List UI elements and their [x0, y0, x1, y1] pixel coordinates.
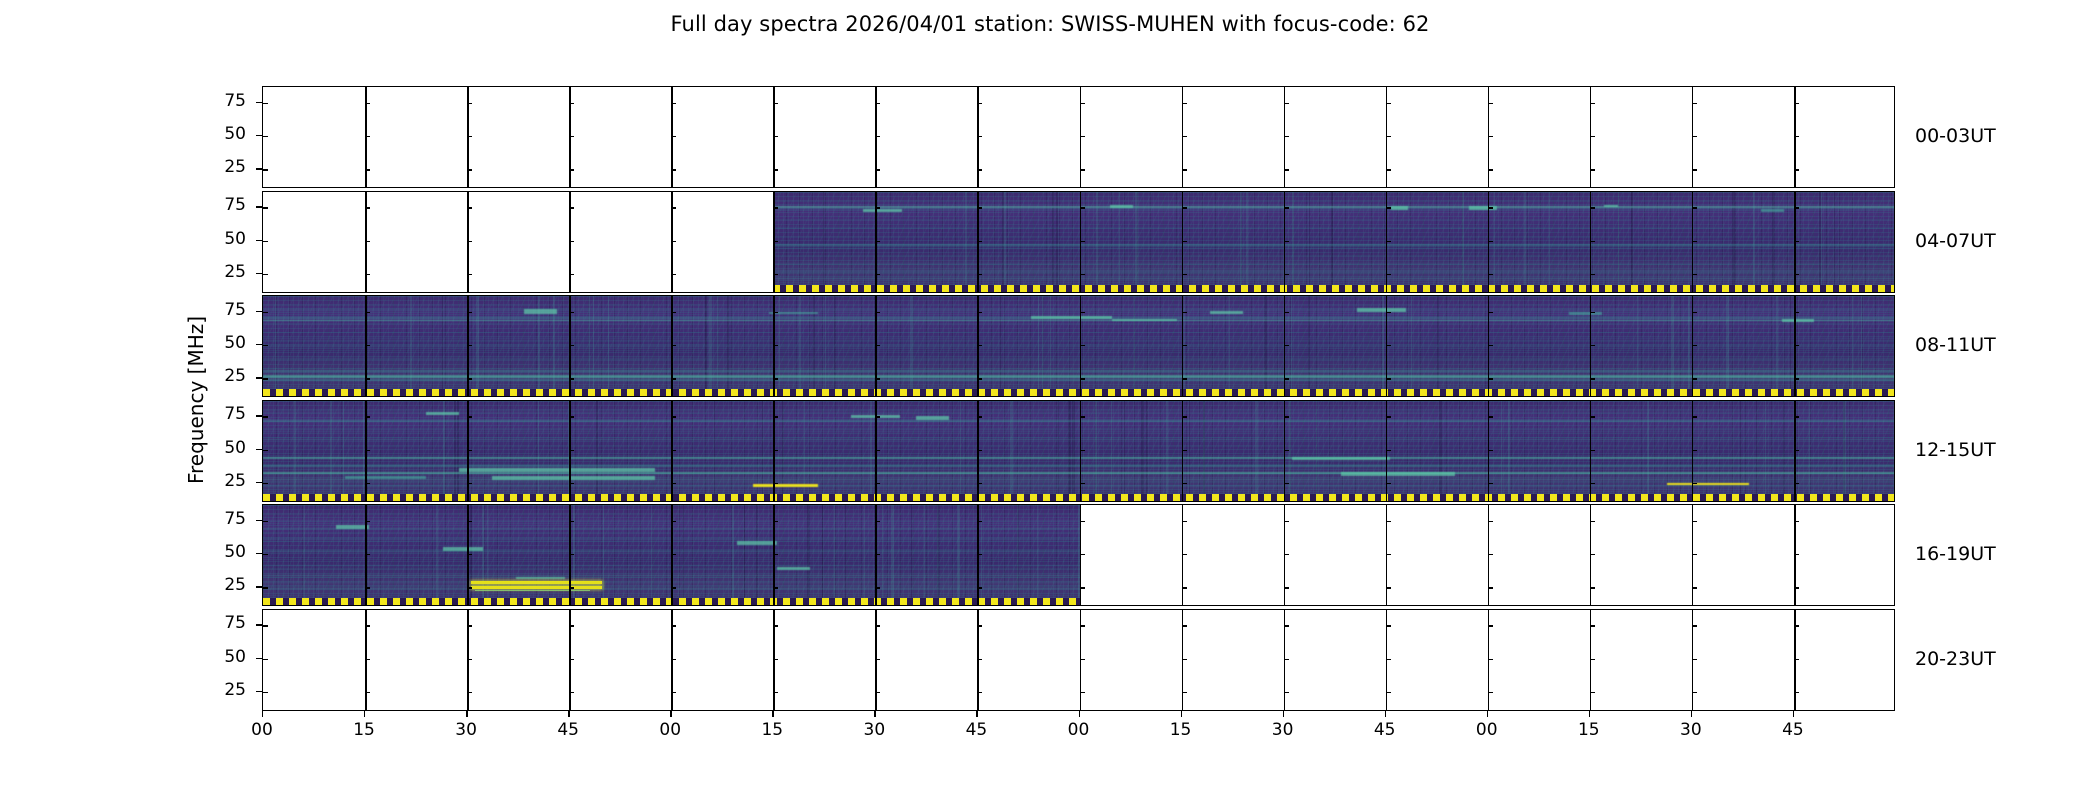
- spectrogram-feature: [516, 577, 565, 579]
- x-tick-label: 00: [1068, 720, 1090, 740]
- y-tick-mark: [1182, 450, 1187, 451]
- y-tick-mark: [1080, 274, 1085, 275]
- y-tick-mark: [1080, 587, 1085, 588]
- y-tick-mark: [671, 312, 676, 313]
- spectrogram-streak: [263, 358, 1894, 359]
- spectrogram-marker-strip: [773, 285, 1894, 292]
- spectrogram-streak: [773, 244, 1894, 246]
- x-tick-label: 45: [966, 720, 988, 740]
- y-tick-mark: [1182, 692, 1187, 693]
- y-tick-mark: [365, 625, 370, 626]
- x-tick-mark: [1079, 711, 1080, 717]
- spectrogram-feature: [1469, 206, 1497, 210]
- y-tick-mark: [1794, 241, 1799, 242]
- y-tick-mark: [263, 103, 268, 104]
- y-tick-mark: [1386, 521, 1391, 522]
- spectrogram-streak: [263, 379, 1894, 381]
- y-tick-mark: [263, 274, 268, 275]
- y-tick-mark: [1386, 378, 1391, 379]
- y-tick-mark: [1794, 345, 1799, 346]
- y-tick-mark: [467, 207, 472, 208]
- row-label-20-23ut: 20-23UT: [1915, 648, 1996, 670]
- y-tick-mark-outer: [256, 482, 262, 483]
- y-tick-label: 50: [196, 333, 246, 353]
- y-tick-mark: [365, 345, 370, 346]
- x-tick-mark: [262, 711, 263, 717]
- y-tick-mark: [671, 169, 676, 170]
- spectrogram-streak: [773, 248, 1894, 249]
- y-tick-label: 50: [196, 229, 246, 249]
- y-tick-mark: [977, 274, 982, 275]
- y-tick-mark: [365, 587, 370, 588]
- y-tick-mark: [1590, 521, 1595, 522]
- y-tick-mark: [1590, 207, 1595, 208]
- y-tick-mark: [671, 136, 676, 137]
- y-tick-mark: [671, 554, 676, 555]
- x-tick-mark: [874, 711, 875, 717]
- y-tick-mark: [1488, 103, 1493, 104]
- y-tick-mark-outer: [256, 658, 262, 659]
- x-tick-label: 15: [353, 720, 375, 740]
- y-tick-mark: [365, 416, 370, 417]
- y-tick-mark: [1794, 416, 1799, 417]
- y-tick-mark: [365, 692, 370, 693]
- y-tick-label: 50: [196, 542, 246, 562]
- y-tick-mark: [1590, 274, 1595, 275]
- spectrogram-streak: [773, 278, 1894, 280]
- spectrogram-streak: [263, 439, 1894, 441]
- y-tick-label: 75: [196, 195, 246, 215]
- y-tick-mark: [977, 416, 982, 417]
- y-tick-mark-outer: [256, 273, 262, 274]
- page-title: Full day spectra 2026/04/01 station: SWI…: [0, 12, 2100, 36]
- y-tick-mark: [875, 136, 880, 137]
- y-tick-mark: [671, 274, 676, 275]
- spectrogram-row-20-23ut: [262, 609, 1895, 711]
- y-tick-mark: [977, 587, 982, 588]
- y-tick-mark: [467, 587, 472, 588]
- y-tick-mark: [1590, 136, 1595, 137]
- row-label-04-07ut: 04-07UT: [1915, 230, 1996, 252]
- row-plot-area: [263, 401, 1894, 501]
- y-tick-mark: [1386, 103, 1391, 104]
- y-tick-mark: [1080, 312, 1085, 313]
- spectrogram-streak: [263, 457, 1894, 459]
- y-tick-mark: [1692, 450, 1697, 451]
- x-tick-label: 00: [659, 720, 681, 740]
- spectrogram-row-12-15ut: [262, 400, 1895, 502]
- y-tick-mark: [569, 312, 574, 313]
- x-tick-mark: [466, 711, 467, 717]
- y-tick-mark: [875, 274, 880, 275]
- spectrogram-streak: [773, 263, 1894, 264]
- y-tick-mark: [875, 554, 880, 555]
- y-tick-mark: [875, 416, 880, 417]
- spectrogram-feature: [1292, 457, 1390, 460]
- y-tick-mark: [467, 103, 472, 104]
- spectrogram-streak: [773, 209, 1894, 210]
- spectrogram-feature: [1110, 205, 1132, 209]
- y-tick-mark: [263, 692, 268, 693]
- y-tick-mark: [365, 554, 370, 555]
- y-tick-mark: [569, 521, 574, 522]
- y-tick-mark-outer: [256, 377, 262, 378]
- x-tick-mark: [976, 711, 977, 717]
- y-tick-mark: [1692, 692, 1697, 693]
- y-tick-mark: [1284, 378, 1289, 379]
- y-tick-mark: [263, 625, 268, 626]
- spectrogram-feature: [1341, 472, 1455, 476]
- y-tick-mark: [467, 274, 472, 275]
- y-tick-mark: [977, 483, 982, 484]
- spectrogram-data: [263, 296, 1894, 396]
- y-tick-mark-outer: [256, 586, 262, 587]
- y-tick-mark: [1182, 312, 1187, 313]
- x-tick-mark: [1691, 711, 1692, 717]
- y-tick-label: 25: [196, 366, 246, 386]
- y-tick-mark: [1488, 450, 1493, 451]
- y-tick-mark: [467, 136, 472, 137]
- y-tick-mark: [1080, 416, 1085, 417]
- y-tick-mark: [773, 207, 778, 208]
- y-tick-mark: [875, 345, 880, 346]
- y-tick-mark: [1590, 241, 1595, 242]
- spectrogram-feature: [345, 476, 427, 479]
- y-tick-mark: [1590, 450, 1595, 451]
- y-tick-mark: [1386, 659, 1391, 660]
- y-tick-mark: [977, 521, 982, 522]
- y-tick-mark-outer: [256, 311, 262, 312]
- y-tick-mark-outer: [256, 553, 262, 554]
- y-tick-mark: [263, 136, 268, 137]
- y-tick-mark-outer: [256, 520, 262, 521]
- y-tick-mark: [1284, 416, 1289, 417]
- y-tick-mark: [875, 483, 880, 484]
- y-tick-mark: [1386, 450, 1391, 451]
- y-tick-mark: [1590, 587, 1595, 588]
- y-tick-mark: [1488, 659, 1493, 660]
- row-label-00-03ut: 00-03UT: [1915, 125, 1996, 147]
- y-tick-mark-outer: [256, 415, 262, 416]
- y-tick-mark: [1590, 483, 1595, 484]
- y-tick-mark-outer: [256, 168, 262, 169]
- spectrogram-feature: [1357, 308, 1406, 312]
- spectrogram-streak: [263, 431, 1894, 432]
- y-tick-mark: [569, 169, 574, 170]
- spectrogram-emission-band: [475, 590, 589, 592]
- y-tick-label: 25: [196, 471, 246, 491]
- y-tick-mark: [365, 483, 370, 484]
- y-tick-mark: [1692, 103, 1697, 104]
- spectrogram-streak: [263, 320, 1894, 321]
- y-tick-mark: [365, 103, 370, 104]
- y-tick-mark: [365, 378, 370, 379]
- y-tick-mark: [875, 587, 880, 588]
- y-tick-mark: [773, 554, 778, 555]
- y-tick-mark: [977, 659, 982, 660]
- y-tick-mark: [1080, 136, 1085, 137]
- y-tick-mark: [875, 241, 880, 242]
- spectrogram-streak: [263, 485, 1894, 487]
- y-tick-mark: [671, 416, 676, 417]
- y-tick-mark: [977, 103, 982, 104]
- y-tick-mark: [1488, 378, 1493, 379]
- y-tick-mark: [1284, 483, 1289, 484]
- y-tick-mark: [365, 274, 370, 275]
- y-tick-mark: [773, 345, 778, 346]
- y-tick-mark: [977, 378, 982, 379]
- y-tick-mark: [1692, 587, 1697, 588]
- y-tick-mark: [263, 587, 268, 588]
- y-tick-mark: [1794, 312, 1799, 313]
- y-tick-mark: [875, 207, 880, 208]
- y-tick-mark: [1590, 416, 1595, 417]
- y-tick-mark: [1692, 521, 1697, 522]
- y-tick-mark: [467, 241, 472, 242]
- spectrogram-row-16-19ut: [262, 504, 1895, 606]
- y-tick-mark: [1590, 554, 1595, 555]
- y-tick-mark: [263, 241, 268, 242]
- spectrogram-row-04-07ut: [262, 191, 1895, 293]
- y-tick-mark-outer: [256, 624, 262, 625]
- y-tick-label: 25: [196, 575, 246, 595]
- y-tick-mark: [1794, 103, 1799, 104]
- y-tick-mark: [773, 103, 778, 104]
- x-tick-mark: [1283, 711, 1284, 717]
- y-tick-mark: [1182, 207, 1187, 208]
- y-tick-mark: [773, 274, 778, 275]
- y-tick-mark: [1080, 103, 1085, 104]
- y-tick-mark: [1488, 692, 1493, 693]
- y-tick-mark: [365, 136, 370, 137]
- y-tick-mark: [977, 692, 982, 693]
- spectrogram-streak: [263, 309, 1894, 311]
- row-label-16-19ut: 16-19UT: [1915, 543, 1996, 565]
- y-tick-mark: [1080, 521, 1085, 522]
- x-tick-label: 15: [1578, 720, 1600, 740]
- y-tick-mark: [1692, 483, 1697, 484]
- y-tick-mark: [671, 483, 676, 484]
- spectrogram-streak: [263, 338, 1894, 339]
- y-tick-mark: [1794, 136, 1799, 137]
- y-tick-mark: [569, 378, 574, 379]
- spectrogram-feature: [1210, 311, 1243, 314]
- y-tick-mark: [1386, 554, 1391, 555]
- y-tick-mark: [1386, 136, 1391, 137]
- y-tick-mark: [1386, 312, 1391, 313]
- x-tick-mark: [1385, 711, 1386, 717]
- y-tick-mark: [569, 483, 574, 484]
- y-tick-mark: [1284, 659, 1289, 660]
- row-plot-area: [263, 610, 1894, 710]
- x-tick-label: 15: [761, 720, 783, 740]
- y-tick-mark: [1386, 587, 1391, 588]
- y-tick-mark: [875, 450, 880, 451]
- y-tick-mark: [1488, 169, 1493, 170]
- spectrogram-streak: [263, 412, 1894, 413]
- y-tick-mark: [569, 416, 574, 417]
- x-tick-mark: [1181, 711, 1182, 717]
- spectrogram-streak: [773, 227, 1894, 228]
- y-tick-mark: [1692, 312, 1697, 313]
- y-tick-mark: [1488, 554, 1493, 555]
- spectrogram-feature: [737, 541, 778, 545]
- y-tick-mark: [365, 207, 370, 208]
- y-tick-mark: [569, 207, 574, 208]
- y-tick-mark: [1386, 483, 1391, 484]
- y-tick-mark: [1386, 416, 1391, 417]
- x-tick-mark: [670, 711, 671, 717]
- y-tick-mark: [263, 450, 268, 451]
- spectrogram-feature: [863, 209, 902, 213]
- y-tick-mark: [1182, 587, 1187, 588]
- y-tick-mark: [1692, 207, 1697, 208]
- y-tick-mark: [263, 345, 268, 346]
- x-tick-label: 45: [557, 720, 579, 740]
- spectrogram-emission-band: [471, 586, 602, 589]
- y-tick-mark: [1182, 136, 1187, 137]
- y-tick-mark: [773, 625, 778, 626]
- y-tick-mark: [1590, 345, 1595, 346]
- y-tick-mark: [977, 345, 982, 346]
- y-tick-mark: [1080, 659, 1085, 660]
- y-tick-mark: [467, 416, 472, 417]
- y-tick-mark: [1284, 521, 1289, 522]
- y-tick-mark: [671, 103, 676, 104]
- y-tick-mark: [773, 378, 778, 379]
- y-tick-mark: [671, 378, 676, 379]
- y-tick-mark: [1080, 345, 1085, 346]
- y-tick-mark: [1284, 241, 1289, 242]
- y-tick-mark: [1692, 169, 1697, 170]
- x-tick-label: 00: [251, 720, 273, 740]
- spectrogram-streak: [773, 206, 1894, 208]
- y-tick-label: 25: [196, 157, 246, 177]
- row-plot-area: [263, 87, 1894, 187]
- y-tick-mark: [773, 587, 778, 588]
- y-tick-mark: [1794, 169, 1799, 170]
- y-tick-mark: [1386, 625, 1391, 626]
- y-tick-mark: [875, 103, 880, 104]
- y-tick-mark-outer: [256, 691, 262, 692]
- y-tick-mark: [569, 103, 574, 104]
- y-tick-label: 50: [196, 124, 246, 144]
- spectrogram-feature: [916, 416, 949, 420]
- y-tick-mark: [1590, 378, 1595, 379]
- y-tick-mark: [1284, 692, 1289, 693]
- y-tick-mark: [1692, 136, 1697, 137]
- spectrogram-figure: Full day spectra 2026/04/01 station: SWI…: [0, 0, 2100, 800]
- y-tick-mark: [1182, 416, 1187, 417]
- spectrogram-feature: [524, 309, 557, 313]
- spectrogram-feature: [1782, 319, 1815, 323]
- y-tick-mark: [263, 521, 268, 522]
- y-tick-mark: [467, 659, 472, 660]
- y-tick-mark: [671, 587, 676, 588]
- y-tick-mark: [1488, 241, 1493, 242]
- y-tick-mark: [1794, 554, 1799, 555]
- y-tick-mark: [569, 554, 574, 555]
- y-tick-mark: [1284, 169, 1289, 170]
- y-tick-mark: [875, 659, 880, 660]
- y-tick-mark: [263, 378, 268, 379]
- row-plot-area: [263, 296, 1894, 396]
- y-tick-label: 75: [196, 613, 246, 633]
- y-tick-mark: [1386, 274, 1391, 275]
- spectrogram-streak: [263, 345, 1894, 347]
- row-plot-area: [263, 505, 1894, 605]
- spectrogram-feature: [459, 468, 655, 472]
- y-tick-mark: [1386, 345, 1391, 346]
- y-tick-mark: [875, 692, 880, 693]
- y-tick-mark: [467, 521, 472, 522]
- y-tick-mark: [671, 659, 676, 660]
- y-tick-mark: [1590, 169, 1595, 170]
- y-tick-mark: [1488, 136, 1493, 137]
- y-tick-mark: [671, 521, 676, 522]
- y-tick-mark: [1284, 625, 1289, 626]
- y-tick-mark: [365, 450, 370, 451]
- y-tick-mark: [1488, 483, 1493, 484]
- y-tick-mark: [1284, 274, 1289, 275]
- y-tick-mark: [977, 312, 982, 313]
- y-tick-mark: [773, 483, 778, 484]
- y-tick-mark: [263, 207, 268, 208]
- spectrogram-feature: [1604, 205, 1617, 207]
- y-tick-mark: [1488, 521, 1493, 522]
- spectrogram-feature: [426, 412, 459, 414]
- y-tick-mark: [1692, 554, 1697, 555]
- y-tick-mark: [1794, 521, 1799, 522]
- spectrogram-streak: [263, 420, 1894, 422]
- x-tick-mark: [568, 711, 569, 717]
- y-tick-label: 25: [196, 680, 246, 700]
- y-tick-mark: [1590, 692, 1595, 693]
- y-tick-mark: [1182, 345, 1187, 346]
- y-tick-mark: [1794, 207, 1799, 208]
- y-tick-mark: [1080, 692, 1085, 693]
- spectrogram-marker-strip: [263, 389, 1894, 396]
- y-tick-mark: [467, 625, 472, 626]
- y-tick-mark-outer: [256, 240, 262, 241]
- y-tick-mark: [1284, 103, 1289, 104]
- y-tick-mark: [263, 312, 268, 313]
- y-tick-mark: [1794, 587, 1799, 588]
- y-tick-mark: [1488, 345, 1493, 346]
- x-tick-mark: [364, 711, 365, 717]
- y-tick-mark: [1590, 103, 1595, 104]
- y-tick-mark: [1182, 483, 1187, 484]
- y-tick-mark: [365, 521, 370, 522]
- y-tick-mark: [1182, 378, 1187, 379]
- spectrogram-feature: [777, 567, 810, 569]
- y-tick-mark-outer: [256, 102, 262, 103]
- y-tick-label: 50: [196, 647, 246, 667]
- y-tick-mark: [365, 659, 370, 660]
- y-tick-mark-outer: [256, 206, 262, 207]
- y-tick-mark: [1590, 625, 1595, 626]
- y-tick-label: 25: [196, 262, 246, 282]
- y-tick-mark: [1488, 625, 1493, 626]
- x-tick-label: 30: [864, 720, 886, 740]
- row-plot-area: [263, 192, 1894, 292]
- spectrogram-feature: [443, 547, 484, 550]
- y-tick-mark: [1794, 659, 1799, 660]
- y-tick-mark: [875, 625, 880, 626]
- y-tick-mark: [671, 241, 676, 242]
- y-tick-mark: [773, 521, 778, 522]
- y-tick-mark: [263, 169, 268, 170]
